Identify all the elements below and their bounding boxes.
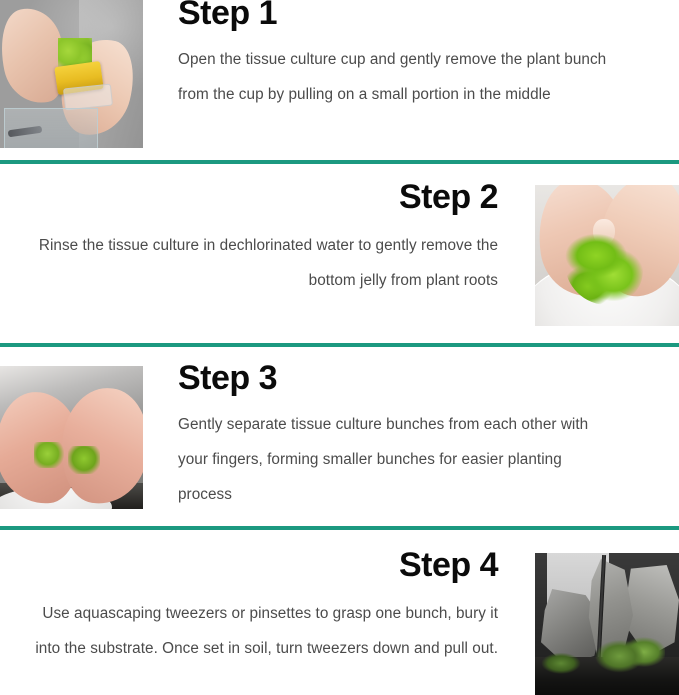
step-2-photo [535, 185, 679, 326]
step-3-body: Gently separate tissue culture bunches f… [178, 407, 618, 512]
steps-infographic: Step 1 Open the tissue culture cup and g… [0, 0, 679, 683]
step-section-3: Step 3 Gently separate tissue culture bu… [0, 347, 679, 526]
step-1-body: Open the tissue culture cup and gently r… [178, 42, 618, 112]
step-4-photo [535, 553, 679, 695]
step-1-title: Step 1 [178, 0, 618, 30]
step-3-photo [0, 366, 143, 509]
step-2-title: Step 2 [30, 180, 498, 214]
step-2-text-block: Step 2 Rinse the tissue culture in dechl… [30, 180, 498, 298]
step-4-title: Step 4 [30, 548, 498, 582]
step-2-body: Rinse the tissue culture in dechlorinate… [30, 228, 498, 298]
step-3-text-block: Step 3 Gently separate tissue culture bu… [178, 361, 618, 512]
step-3-title: Step 3 [178, 361, 618, 395]
step-1-photo [0, 0, 143, 148]
step-1-text-block: Step 1 Open the tissue culture cup and g… [178, 0, 618, 112]
step-section-1: Step 1 Open the tissue culture cup and g… [0, 0, 679, 160]
step-4-text-block: Step 4 Use aquascaping tweezers or pinse… [30, 548, 498, 666]
step-4-body: Use aquascaping tweezers or pinsettes to… [30, 596, 498, 666]
step-section-4: Step 4 Use aquascaping tweezers or pinse… [0, 530, 679, 695]
step-section-2: Step 2 Rinse the tissue culture in dechl… [0, 164, 679, 343]
